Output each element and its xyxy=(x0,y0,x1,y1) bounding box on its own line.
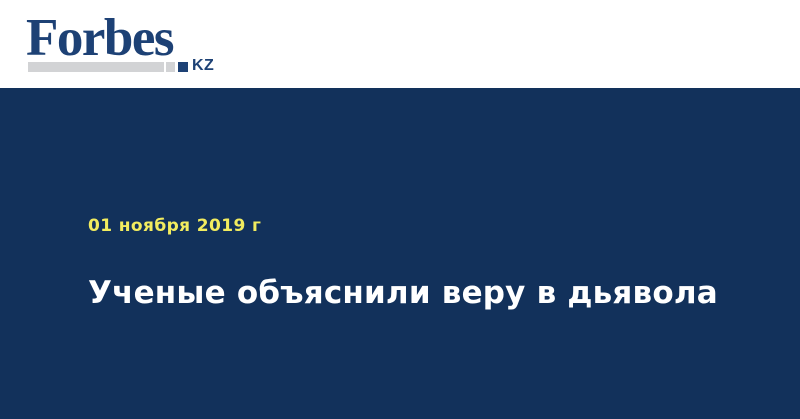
article-preview-page: Forbes KZ 01 ноября 2019 г Ученые объясн… xyxy=(0,0,800,419)
article-banner: 01 ноября 2019 г Ученые объяснили веру в… xyxy=(0,88,800,419)
logo-gray-rule xyxy=(28,62,164,72)
forbes-kz-logo[interactable]: Forbes KZ xyxy=(26,12,226,80)
forbes-wordmark: Forbes xyxy=(26,12,173,65)
site-header: Forbes KZ xyxy=(0,0,800,88)
article-title[interactable]: Ученые объяснили веру в дьявола xyxy=(88,274,748,312)
logo-gray-square-icon xyxy=(166,62,175,72)
logo-kz-suffix: KZ xyxy=(192,58,214,74)
article-date: 01 ноября 2019 г xyxy=(88,215,261,237)
logo-blue-square-icon xyxy=(178,62,188,72)
